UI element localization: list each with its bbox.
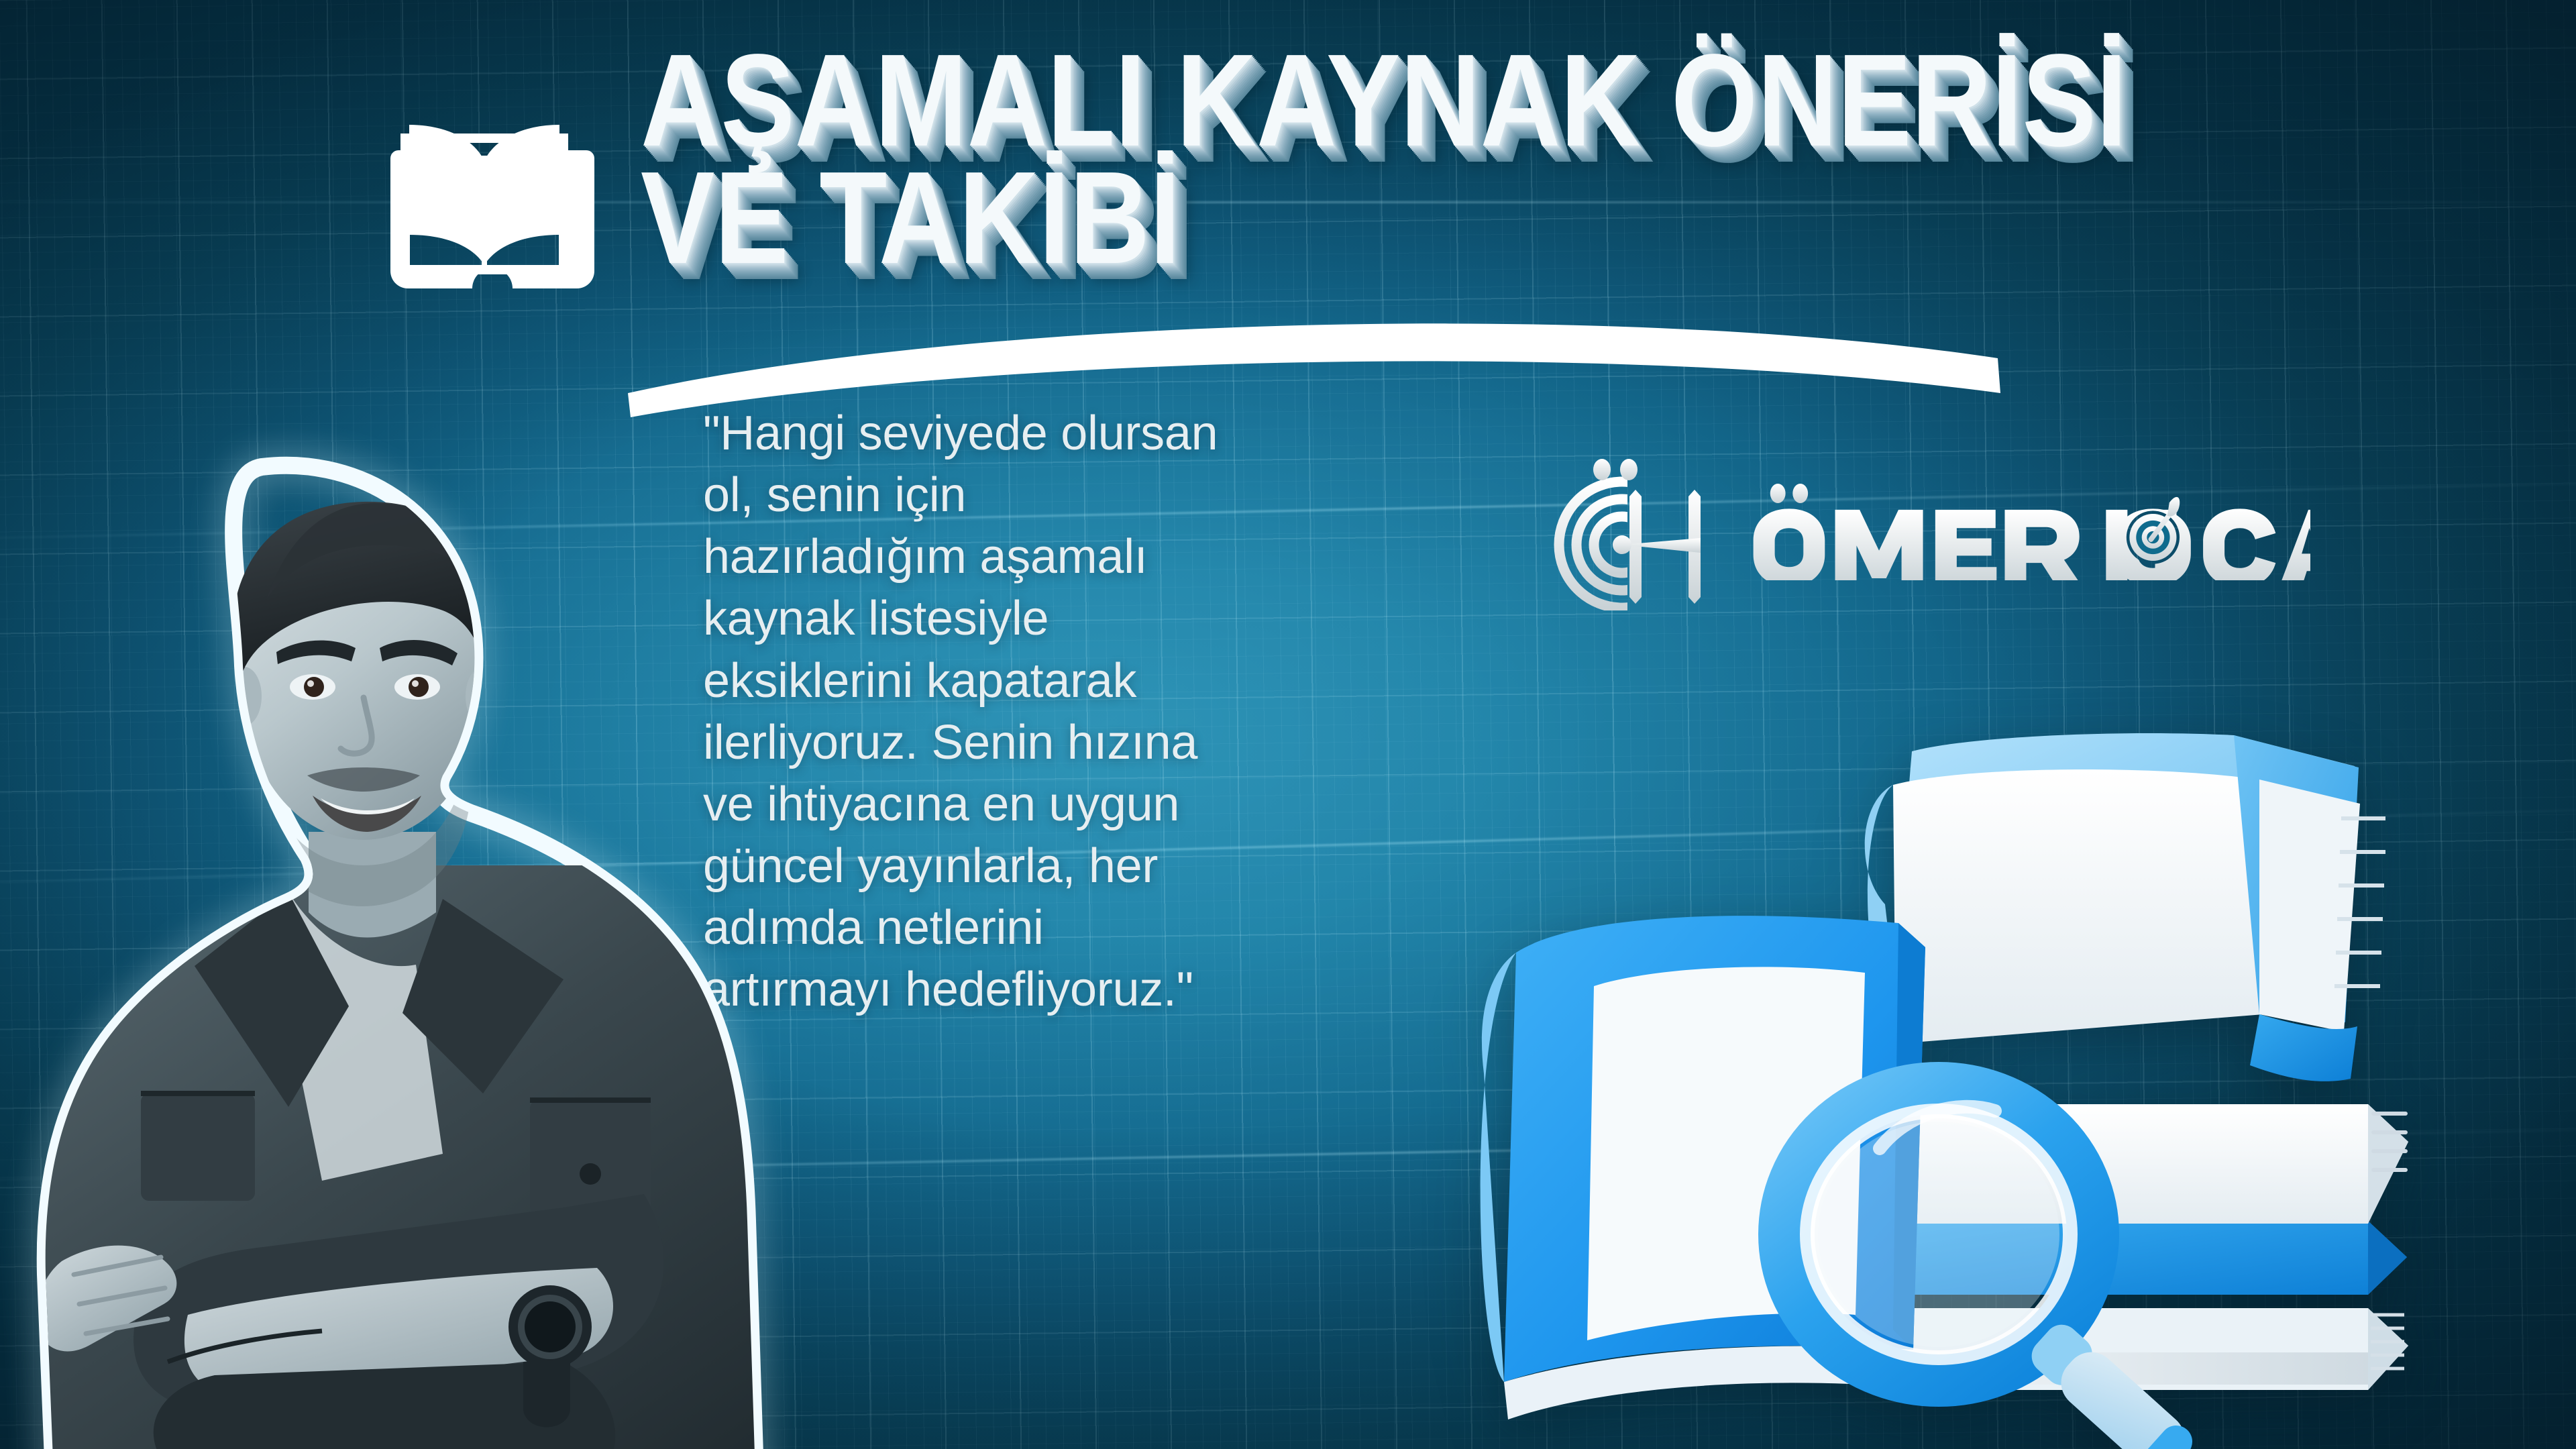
quote-text: "Hangi seviyede olursan ol, senin için h… bbox=[703, 402, 1495, 1021]
brand-logo bbox=[1543, 443, 2310, 610]
quote-line: güncel yayınlarla, her bbox=[703, 835, 1495, 897]
quote-line: ve ihtiyacına en uygun bbox=[703, 773, 1495, 835]
brand-wordmark bbox=[1748, 473, 2310, 580]
quote-line: ilerliyoruz. Senin hızına bbox=[703, 712, 1495, 773]
omer-hoca-target-monogram-icon bbox=[1543, 443, 1725, 610]
quote-line: ol, senin için bbox=[703, 464, 1495, 526]
title-line-2: VE TAKİBİ bbox=[641, 166, 2092, 271]
promotional-banner: AŞAMALI KAYNAK ÖNERİSİ VE TAKİBİ "Hangi … bbox=[0, 0, 2576, 1449]
open-book-icon bbox=[370, 94, 598, 302]
title-line-1: AŞAMALI KAYNAK ÖNERİSİ bbox=[641, 48, 2092, 154]
page-title: AŞAMALI KAYNAK ÖNERİSİ VE TAKİBİ bbox=[641, 48, 2358, 271]
book-stack-with-magnifier-illustration bbox=[1429, 671, 2475, 1449]
quote-line: artırmayı hedefliyoruz." bbox=[703, 959, 1495, 1020]
quote-line: eksiklerini kapatarak bbox=[703, 650, 1495, 712]
instructor-portrait-cutout bbox=[0, 402, 812, 1449]
quote-line: kaynak listesiyle bbox=[703, 588, 1495, 649]
quote-line: hazırladığım aşamalı bbox=[703, 526, 1495, 588]
quote-line: adımda netlerini bbox=[703, 897, 1495, 959]
quote-line: "Hangi seviyede olursan bbox=[703, 402, 1495, 464]
